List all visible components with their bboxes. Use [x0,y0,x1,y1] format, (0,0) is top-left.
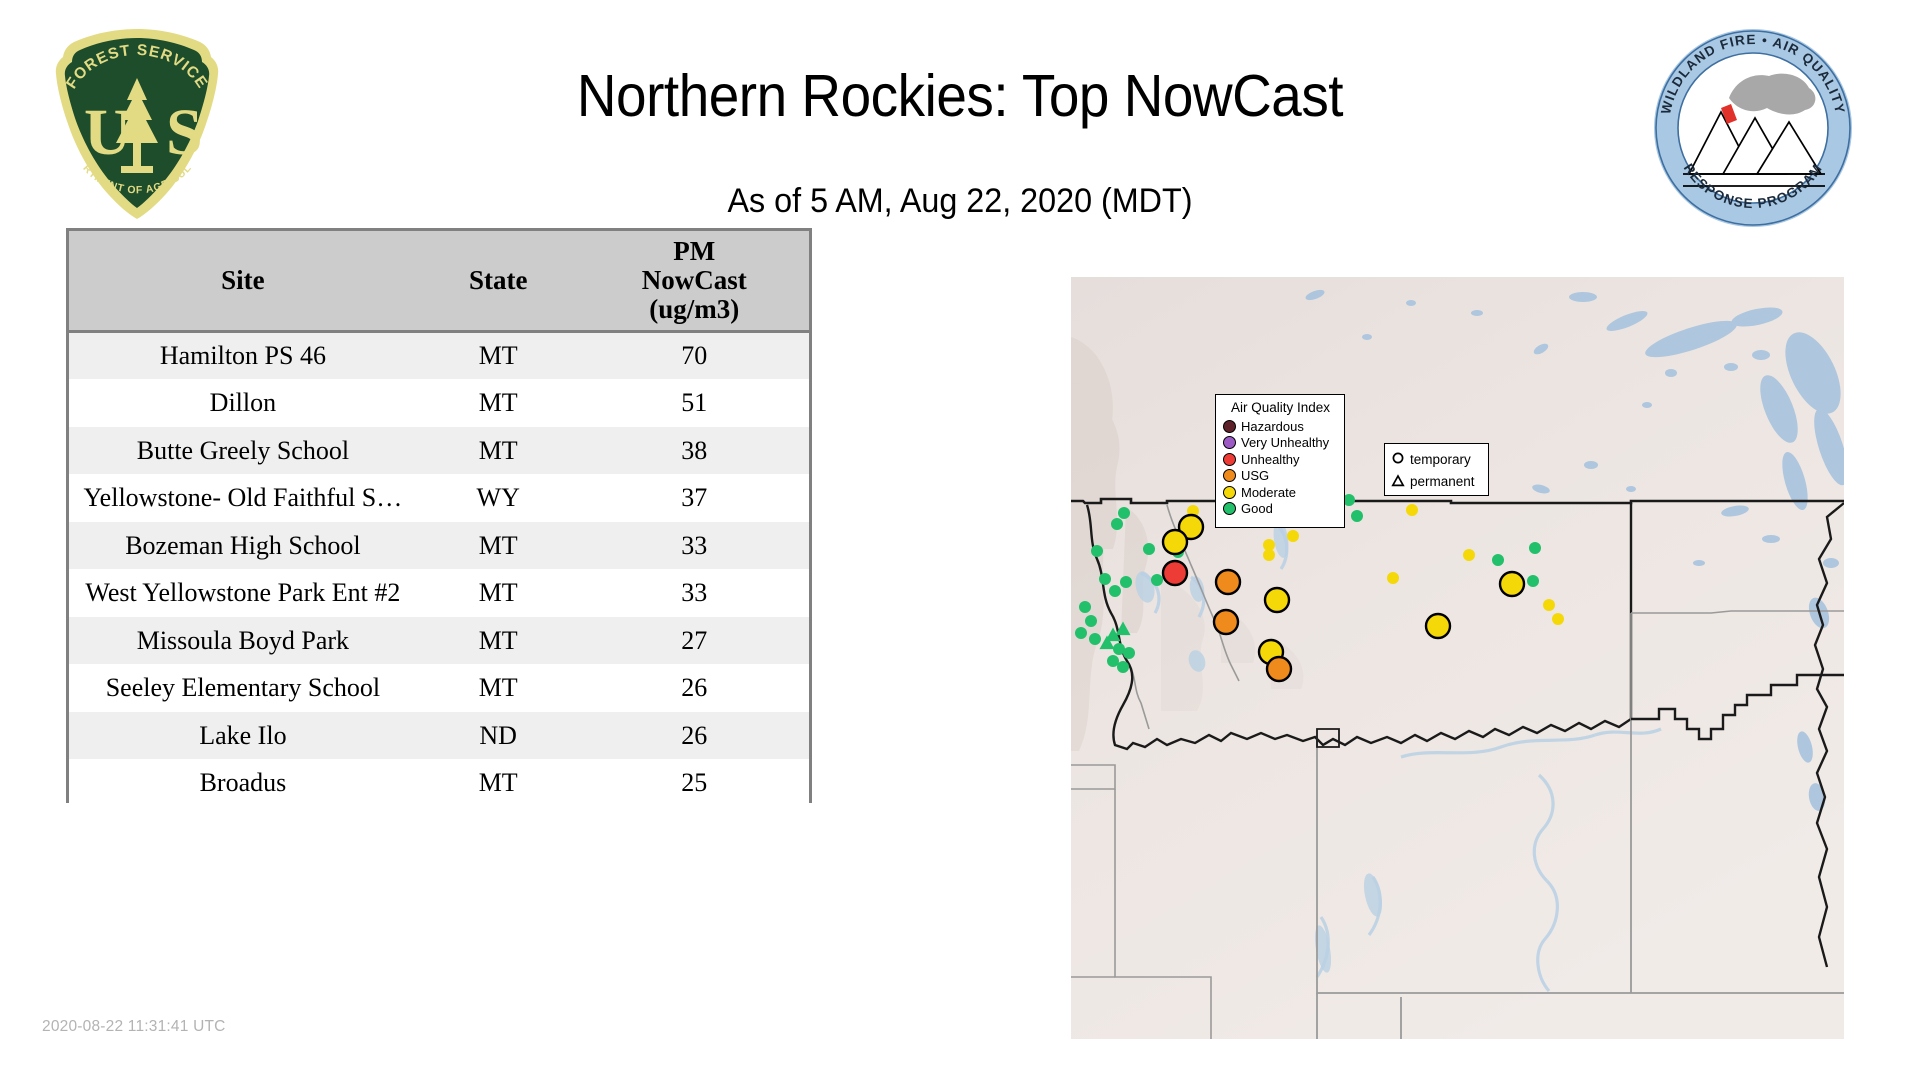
table-row: Bozeman High SchoolMT33 [69,522,809,570]
aqi-legend-label: Unhealthy [1241,452,1300,467]
pm-nowcast-cell: 27 [580,617,809,665]
monitor-marker[interactable] [1263,549,1275,561]
state-cell: MT [417,759,580,807]
site-cell: Hamilton PS 46 [69,332,417,380]
monitor-type-legend: temporary permanent [1384,443,1489,496]
monitor-marker[interactable] [1091,545,1103,557]
state-cell: MT [417,427,580,475]
state-cell: WY [417,474,580,522]
state-cell: MT [417,522,580,570]
site-cell: West Yellowstone Park Ent #2 [69,569,417,617]
site-cell: Broadus [69,759,417,807]
pm-nowcast-cell: 26 [580,664,809,712]
slide-root: FOREST SERVICE DEPARTMENT OF AGRICULTURE… [0,0,1920,1080]
aqi-legend-label: Good [1241,501,1273,516]
aqi-swatch-icon [1223,486,1236,499]
aqi-swatch-icon [1223,453,1236,466]
site-cell: Seeley Elementary School [69,664,417,712]
pm-nowcast-cell: 70 [580,332,809,380]
legend-label-temporary: temporary [1410,452,1471,467]
aqi-swatch-icon [1223,502,1236,515]
table-row: BroadusMT25 [69,759,809,807]
monitor-marker[interactable] [1527,575,1539,587]
state-cell: ND [417,712,580,760]
monitor-marker[interactable] [1163,530,1187,554]
monitor-marker[interactable] [1075,627,1087,639]
table-row: DillonMT51 [69,379,809,427]
table-body: Hamilton PS 46MT70DillonMT51Butte Greely… [69,332,809,807]
monitor-marker[interactable] [1079,601,1091,613]
table-row: Seeley Elementary SchoolMT26 [69,664,809,712]
pm-nowcast-cell: 25 [580,759,809,807]
table-row: Hamilton PS 46MT70 [69,332,809,380]
svg-text:S: S [166,96,203,169]
state-cell: MT [417,569,580,617]
monitor-marker[interactable] [1492,554,1504,566]
monitor-marker[interactable] [1117,661,1129,673]
monitor-marker[interactable] [1143,543,1155,555]
wildland-fire-air-quality-seal-icon: WILDLAND FIRE • AIR QUALITY RESPONSE PRO… [1651,26,1856,231]
permanent-monitor-icon [1390,474,1406,488]
top-nowcast-table: Site State PM NowCast (ug/m3) Hamilton P… [69,231,809,807]
table-row: Yellowstone- Old Faithful S…WY37 [69,474,809,522]
column-header-pm-line3: (ug/m3) [582,295,807,324]
aqi-swatch-icon [1223,420,1236,433]
page-title: Northern Rockies: Top NowCast [346,62,1574,130]
aqi-legend-label: Very Unhealthy [1241,435,1329,450]
monitor-marker[interactable] [1214,610,1238,634]
aqi-legend-title: Air Quality Index [1223,400,1338,415]
aqi-legend-label: USG [1241,468,1269,483]
site-cell: Lake Ilo [69,712,417,760]
forest-service-shield-icon: FOREST SERVICE DEPARTMENT OF AGRICULTURE… [48,26,226,222]
aqi-legend-label: Moderate [1241,485,1296,500]
monitor-marker[interactable] [1500,572,1524,596]
aqi-legend-item: Hazardous [1223,418,1338,435]
monitor-marker[interactable] [1287,530,1299,542]
monitor-marker[interactable] [1216,570,1240,594]
aqi-legend-item: Good [1223,501,1338,518]
site-cell: Missoula Boyd Park [69,617,417,665]
state-cell: MT [417,332,580,380]
top-nowcast-table-container: Site State PM NowCast (ug/m3) Hamilton P… [66,228,812,803]
monitor-marker[interactable] [1351,510,1363,522]
monitor-marker[interactable] [1107,655,1119,667]
pm-nowcast-cell: 51 [580,379,809,427]
aqi-legend-rows: HazardousVery UnhealthyUnhealthyUSGModer… [1223,418,1338,517]
aqi-legend-item: Unhealthy [1223,451,1338,468]
usda-forest-service-logo: FOREST SERVICE DEPARTMENT OF AGRICULTURE… [48,26,226,222]
map-canvas [1071,277,1844,1039]
monitor-marker[interactable] [1120,576,1132,588]
table-header-row: Site State PM NowCast (ug/m3) [69,231,809,332]
monitor-marker[interactable] [1089,633,1101,645]
table-row: West Yellowstone Park Ent #2MT33 [69,569,809,617]
table-row: Missoula Boyd ParkMT27 [69,617,809,665]
aqi-legend: Air Quality Index HazardousVery Unhealth… [1215,394,1345,528]
aqi-swatch-icon [1223,469,1236,482]
pm-nowcast-cell: 33 [580,522,809,570]
pm-nowcast-cell: 38 [580,427,809,475]
wfaqrp-logo: WILDLAND FIRE • AIR QUALITY RESPONSE PRO… [1651,26,1856,231]
generation-timestamp: 2020-08-22 11:31:41 UTC [42,1018,226,1036]
pm-nowcast-cell: 37 [580,474,809,522]
state-cell: MT [417,664,580,712]
monitor-marker[interactable] [1543,599,1555,611]
air-quality-monitor-map[interactable] [1071,277,1844,1039]
aqi-legend-label: Hazardous [1241,419,1304,434]
monitor-marker[interactable] [1099,573,1111,585]
monitor-marker[interactable] [1163,561,1187,585]
monitor-marker[interactable] [1109,585,1121,597]
monitor-marker[interactable] [1123,647,1135,659]
monitor-marker[interactable] [1463,549,1475,561]
monitor-marker[interactable] [1151,574,1163,586]
pm-nowcast-cell: 33 [580,569,809,617]
legend-label-permanent: permanent [1410,474,1475,489]
pm-nowcast-cell: 26 [580,712,809,760]
site-cell: Dillon [69,379,417,427]
monitor-marker[interactable] [1265,588,1289,612]
site-cell: Yellowstone- Old Faithful S… [69,474,417,522]
aqi-swatch-icon [1223,436,1236,449]
legend-row-permanent: permanent [1390,470,1483,492]
column-header-state: State [417,231,580,332]
monitor-marker[interactable] [1118,507,1130,519]
state-cell: MT [417,379,580,427]
table-header: Site State PM NowCast (ug/m3) [69,231,809,332]
aqi-legend-item: Moderate [1223,484,1338,501]
page-subtitle: As of 5 AM, Aug 22, 2020 (MDT) [333,182,1587,221]
aqi-legend-item: USG [1223,468,1338,485]
column-header-pm-nowcast: PM NowCast (ug/m3) [580,231,809,332]
legend-row-temporary: temporary [1390,448,1483,470]
aqi-legend-item: Very Unhealthy [1223,435,1338,452]
monitor-marker[interactable] [1406,504,1418,516]
table-row: Lake IloND26 [69,712,809,760]
monitor-marker[interactable] [1267,657,1291,681]
column-header-pm-line1: PM [582,237,807,266]
monitor-marker[interactable] [1387,572,1399,584]
monitor-marker[interactable] [1111,518,1123,530]
monitor-marker[interactable] [1085,615,1097,627]
site-cell: Bozeman High School [69,522,417,570]
monitor-marker[interactable] [1426,614,1450,638]
monitor-marker[interactable] [1529,542,1541,554]
column-header-pm-line2: NowCast [582,266,807,295]
column-header-site: Site [69,231,417,332]
table-row: Butte Greely SchoolMT38 [69,427,809,475]
site-cell: Butte Greely School [69,427,417,475]
monitor-marker[interactable] [1552,613,1564,625]
state-cell: MT [417,617,580,665]
temporary-monitor-icon [1390,452,1406,466]
